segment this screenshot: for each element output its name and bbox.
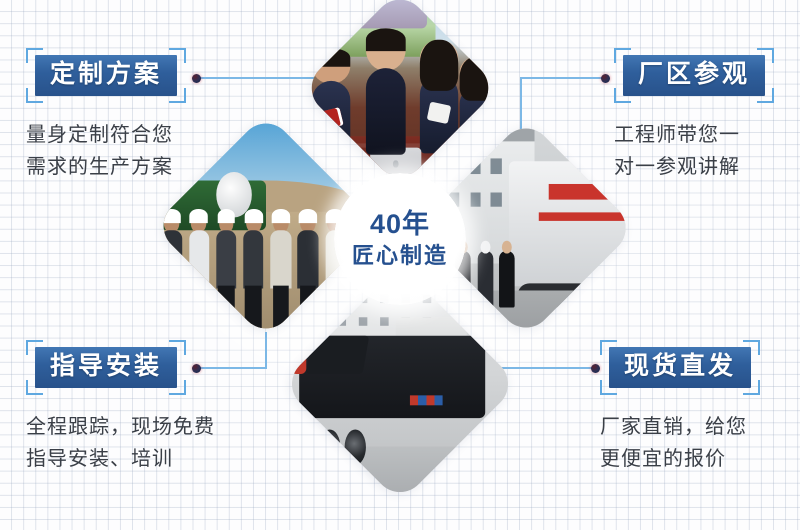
corner-bracket-icon [743,340,760,355]
badge-label-install-guide: 指导安装 [35,347,177,388]
corner-bracket-icon [169,48,186,63]
badge-label-custom-plan: 定制方案 [35,55,177,96]
badge-frame-custom-plan: 定制方案 [26,48,186,103]
center-badge-slogan: 匠心制造 [352,245,448,267]
corner-bracket-icon [614,88,631,103]
feature-desc-in-stock-ship: 厂家直销，给您 更便宜的报价 [600,411,760,476]
center-badge: 40年 匠心制造 [334,173,466,305]
corner-bracket-icon [169,88,186,103]
corner-bracket-icon [26,88,43,103]
corner-bracket-icon [26,340,43,355]
corner-bracket-icon [26,48,43,63]
corner-bracket-icon [169,380,186,395]
connector-dot-bottom-right [591,364,600,373]
feature-block-install-guide: 指导安装 全程跟踪，现场免费 指导安装、培训 [26,340,215,475]
feature-block-in-stock-ship: 现货直发 厂家直销，给您 更便宜的报价 [600,340,760,475]
badge-frame-install-guide: 指导安装 [26,340,186,395]
badge-label-in-stock-ship: 现货直发 [609,347,751,388]
feature-desc-custom-plan: 量身定制符合您 需求的生产方案 [26,119,186,184]
feature-block-factory-tour: 厂区参观 工程师带您一 对一参观讲解 [614,48,774,183]
corner-bracket-icon [757,48,774,63]
corner-bracket-icon [743,380,760,395]
corner-bracket-icon [600,340,617,355]
corner-bracket-icon [169,340,186,355]
connector-dot-top-right [601,74,610,83]
badge-frame-factory-tour: 厂区参观 [614,48,774,103]
badge-frame-in-stock-ship: 现货直发 [600,340,760,395]
connector-dot-top-left [192,74,201,83]
corner-bracket-icon [757,88,774,103]
corner-bracket-icon [26,380,43,395]
badge-label-factory-tour: 厂区参观 [623,55,765,96]
feature-desc-install-guide: 全程跟踪，现场免费 指导安装、培训 [26,411,215,476]
center-badge-years: 40年 [370,211,430,238]
corner-bracket-icon [614,48,631,63]
feature-desc-factory-tour: 工程师带您一 对一参观讲解 [614,119,774,184]
feature-block-custom-plan: 定制方案 量身定制符合您 需求的生产方案 [26,48,186,183]
promo-banner: 40年 匠心制造 定制方案 量身定制符合您 需求的生产方案 厂区参观 工程师带您… [0,0,800,530]
corner-bracket-icon [600,380,617,395]
